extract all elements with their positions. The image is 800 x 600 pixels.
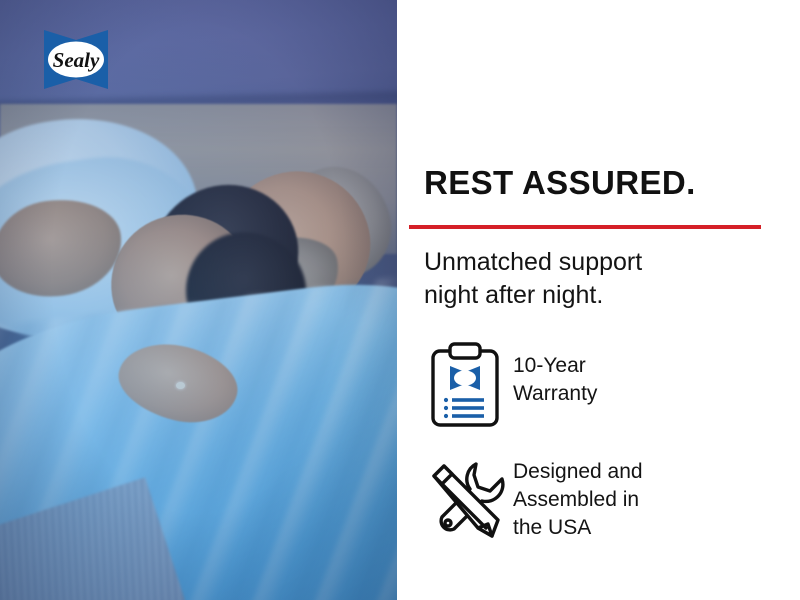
list-bullet-2: [444, 406, 448, 410]
content-panel: REST ASSURED. Unmatched support night af…: [397, 0, 800, 600]
wedding-ring: [176, 382, 185, 389]
subheadline: Unmatched support night after night.: [424, 246, 642, 312]
list-bullet-1: [444, 398, 448, 402]
list-line-2: [452, 406, 484, 410]
clipboard-warranty-icon: [417, 340, 513, 430]
pencil-wrench-icon: [417, 452, 513, 544]
list-line-1: [452, 398, 484, 402]
feature-label-warranty: 10-Year Warranty: [513, 340, 597, 408]
clipboard-body: [433, 351, 497, 425]
clipboard-clip: [450, 344, 480, 358]
feature-item-warranty: 10-Year Warranty: [417, 340, 777, 430]
feature-list: 10-Year Warranty: [417, 340, 777, 566]
sealy-advertisement: Sealy REST ASSURED. Unmatched support ni…: [0, 0, 800, 600]
clipboard-bowtie-ellipse: [454, 370, 476, 385]
list-bullet-3: [444, 414, 448, 418]
page-title: REST ASSURED.: [424, 166, 696, 199]
feature-item-usa: Designed and Assembled in the USA: [417, 452, 777, 544]
feature-label-usa: Designed and Assembled in the USA: [513, 452, 643, 542]
sealy-bowtie-logo: Sealy: [38, 26, 114, 93]
hero-photo: Sealy: [0, 0, 397, 600]
red-divider: [409, 225, 761, 229]
wrench-pivot-dot: [445, 520, 451, 526]
logo-wordmark: Sealy: [53, 48, 100, 72]
list-line-3: [452, 414, 484, 418]
